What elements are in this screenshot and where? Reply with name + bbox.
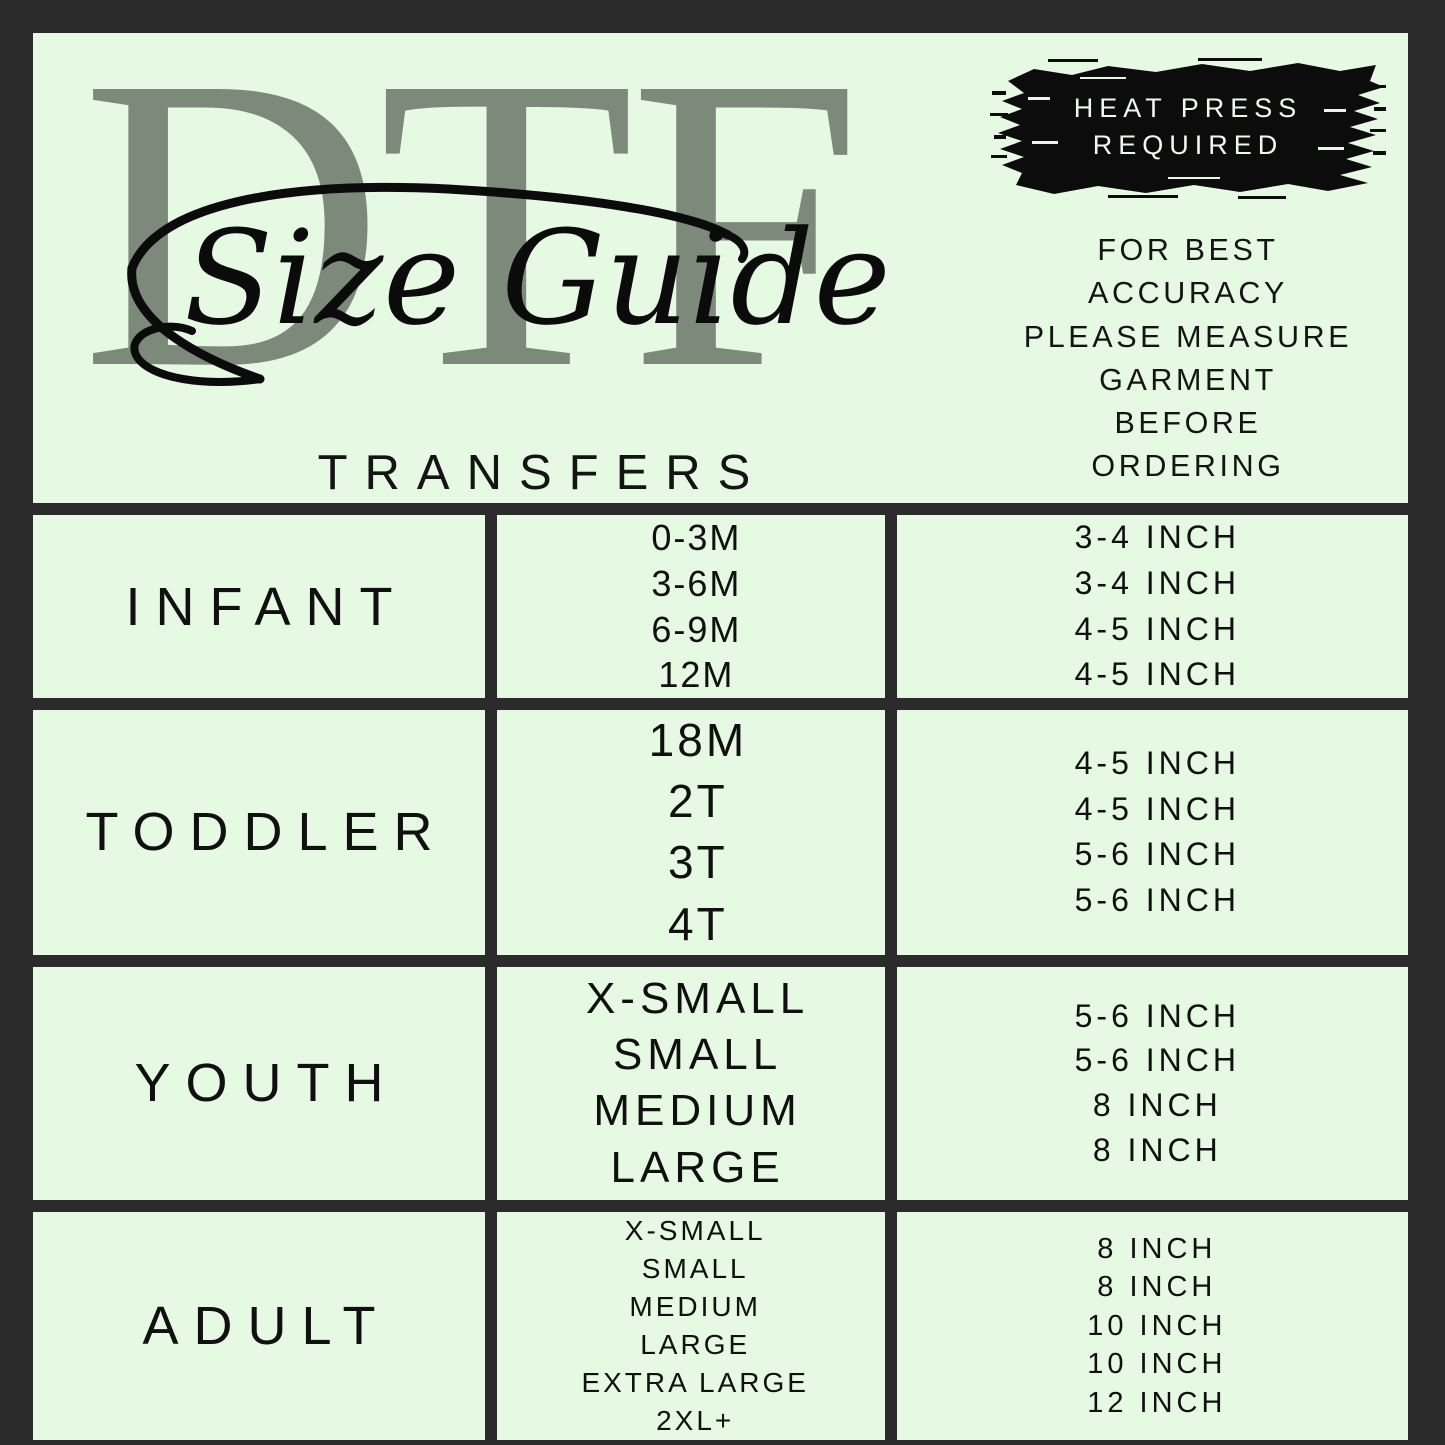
list-item: 8 INCH	[1083, 1128, 1222, 1173]
row-sizes-cell: X-SMALL SMALL MEDIUM LARGE EXTRA LARGE 2…	[497, 1212, 885, 1440]
list-item: 2XL+	[648, 1402, 735, 1440]
list-item: 6-9M	[641, 607, 742, 653]
list-item: 3T	[654, 832, 727, 893]
row-sizes-cell: 18M 2T 3T 4T	[497, 710, 885, 955]
notice-line-3: PLEASE MEASURE	[988, 316, 1388, 359]
row-label: ADULT	[127, 1295, 390, 1357]
list-item: 4-5 INCH	[1065, 787, 1240, 833]
list-item: LARGE	[632, 1326, 750, 1364]
inches-list: 8 INCH 8 INCH 10 INCH 10 INCH 12 INCH	[897, 1230, 1408, 1423]
list-item: 10 INCH	[1079, 1307, 1227, 1346]
row-inches-cell: 3-4 INCH 3-4 INCH 4-5 INCH 4-5 INCH	[897, 515, 1408, 698]
list-item: 12 INCH	[1079, 1384, 1227, 1423]
list-item: 3-6M	[641, 561, 742, 607]
sizes-list: 18M 2T 3T 4T	[497, 710, 885, 955]
inches-list: 3-4 INCH 3-4 INCH 4-5 INCH 4-5 INCH	[897, 515, 1408, 698]
sizes-list: 0-3M 3-6M 6-9M 12M	[497, 515, 885, 698]
dtf-logo-text: DTF	[81, 33, 856, 433]
list-item: 3-4 INCH	[1065, 561, 1240, 607]
list-item: 8 INCH	[1089, 1230, 1217, 1269]
row-label: YOUTH	[120, 1052, 399, 1114]
sizes-list: X-SMALL SMALL MEDIUM LARGE EXTRA LARGE 2…	[497, 1212, 885, 1440]
list-item: 5-6 INCH	[1065, 994, 1240, 1039]
notice-line-6: ORDERING	[988, 445, 1388, 488]
list-item: X-SMALL	[616, 1212, 765, 1250]
list-item: X-SMALL	[573, 971, 809, 1027]
list-item: 2T	[654, 771, 727, 832]
row-label-cell: INFANT	[33, 515, 485, 698]
row-sizes-cell: 0-3M 3-6M 6-9M 12M	[497, 515, 885, 698]
badge-line-2: REQUIRED	[1093, 130, 1284, 162]
row-label-cell: ADULT	[33, 1212, 485, 1440]
list-item: SMALL	[600, 1027, 782, 1083]
notice-line-4: GARMENT	[988, 359, 1388, 402]
list-item: MEDIUM	[621, 1288, 761, 1326]
table-row: INFANT 0-3M 3-6M 6-9M 12M 3-4 INCH 3-4 I…	[33, 515, 1408, 698]
row-label-cell: YOUTH	[33, 967, 485, 1200]
row-label-cell: TODDLER	[33, 710, 485, 955]
list-item: 5-6 INCH	[1065, 832, 1240, 878]
list-item: 4T	[654, 894, 727, 955]
heat-press-badge-label: HEAT PRESS REQUIRED	[988, 51, 1388, 203]
list-item: SMALL	[633, 1250, 748, 1288]
list-item: 18M	[635, 710, 747, 771]
list-item: EXTRA LARGE	[573, 1364, 809, 1402]
inches-list: 4-5 INCH 4-5 INCH 5-6 INCH 5-6 INCH	[897, 741, 1408, 924]
list-item: 0-3M	[641, 515, 742, 561]
list-item: 4-5 INCH	[1065, 607, 1240, 653]
list-item: 8 INCH	[1083, 1083, 1222, 1128]
header-panel: DTF Size Guide TRANSFERS	[33, 33, 1408, 503]
size-table: INFANT 0-3M 3-6M 6-9M 12M 3-4 INCH 3-4 I…	[33, 515, 1408, 1440]
header-right-block: HEAT PRESS REQUIRED FOR BEST ACCURACY PL…	[988, 51, 1388, 489]
badge-line-1: HEAT PRESS	[1074, 93, 1303, 125]
sizes-list: X-SMALL SMALL MEDIUM LARGE	[497, 971, 885, 1196]
list-item: 10 INCH	[1079, 1345, 1227, 1384]
notice-line-5: BEFORE	[988, 402, 1388, 445]
list-item: 5-6 INCH	[1065, 1038, 1240, 1083]
heat-press-badge: HEAT PRESS REQUIRED	[988, 51, 1388, 203]
table-row: YOUTH X-SMALL SMALL MEDIUM LARGE 5-6 INC…	[33, 967, 1408, 1200]
inches-list: 5-6 INCH 5-6 INCH 8 INCH 8 INCH	[897, 994, 1408, 1173]
list-item: 3-4 INCH	[1065, 515, 1240, 561]
row-inches-cell: 5-6 INCH 5-6 INCH 8 INCH 8 INCH	[897, 967, 1408, 1200]
measurement-notice: FOR BEST ACCURACY PLEASE MEASURE GARMENT…	[988, 229, 1388, 489]
row-label: TODDLER	[70, 801, 447, 863]
row-sizes-cell: X-SMALL SMALL MEDIUM LARGE	[497, 967, 885, 1200]
list-item: 5-6 INCH	[1065, 878, 1240, 924]
row-inches-cell: 4-5 INCH 4-5 INCH 5-6 INCH 5-6 INCH	[897, 710, 1408, 955]
table-row: TODDLER 18M 2T 3T 4T 4-5 INCH 4-5 INCH 5…	[33, 710, 1408, 955]
row-inches-cell: 8 INCH 8 INCH 10 INCH 10 INCH 12 INCH	[897, 1212, 1408, 1440]
list-item: 8 INCH	[1089, 1268, 1217, 1307]
list-item: 4-5 INCH	[1065, 741, 1240, 787]
list-item: 4-5 INCH	[1065, 652, 1240, 698]
row-label: INFANT	[110, 576, 407, 638]
list-item: 12M	[648, 652, 735, 698]
table-row: ADULT X-SMALL SMALL MEDIUM LARGE EXTRA L…	[33, 1212, 1408, 1440]
notice-line-1: FOR BEST	[988, 229, 1388, 272]
list-item: LARGE	[597, 1140, 784, 1196]
notice-line-2: ACCURACY	[988, 272, 1388, 315]
size-guide-poster: DTF Size Guide TRANSFERS	[0, 0, 1445, 1445]
list-item: MEDIUM	[580, 1083, 802, 1139]
